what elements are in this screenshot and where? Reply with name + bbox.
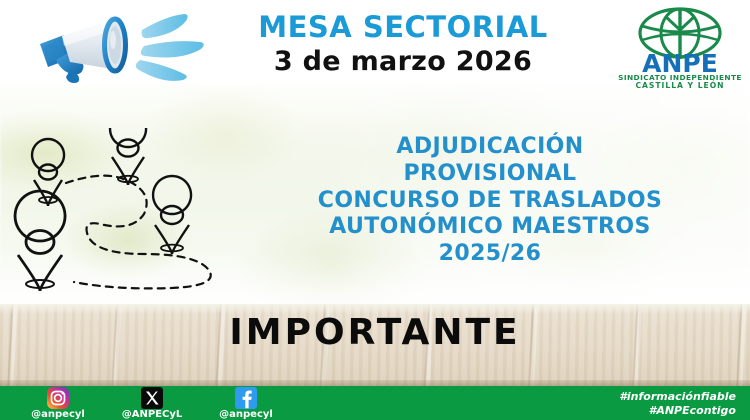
- x-handle: @ANPECyL: [122, 409, 183, 420]
- announcement-line-1: ADJUDICACIÓN: [238, 134, 742, 161]
- map-pins-route: [4, 128, 254, 298]
- instagram-handle: @anpecyl: [31, 409, 85, 420]
- social-links: @anpecyl @ANPECyL @anp: [16, 386, 288, 420]
- hashtag-informacionfiable: #informaciónfiable: [619, 390, 736, 404]
- announcement-line-4: AUTONÓMICO MAESTROS: [238, 214, 742, 241]
- social-link-instagram[interactable]: @anpecyl: [16, 386, 100, 420]
- facebook-handle: @anpecyl: [219, 409, 273, 420]
- announcement-text: ADJUDICACIÓN PROVISIONAL CONCURSO DE TRA…: [238, 134, 742, 268]
- importante-banner: IMPORTANTE: [0, 312, 750, 353]
- map-pin-icon: [15, 191, 65, 291]
- x-twitter-icon: [141, 387, 163, 409]
- poster-canvas: MESA SECTORIAL 3 de marzo 2026 ANPE SIND…: [0, 0, 750, 420]
- announcement-line-2: PROVISIONAL: [238, 161, 742, 188]
- hashtags: #informaciónfiable #ANPEcontigo: [619, 390, 736, 418]
- footer-bar: @anpecyl @ANPECyL @anp: [0, 386, 750, 420]
- meeting-date: 3 de marzo 2026: [208, 47, 598, 76]
- facebook-icon: [235, 387, 257, 409]
- dashed-route-path: [66, 176, 211, 289]
- social-link-facebook[interactable]: @anpecyl: [204, 386, 288, 420]
- announcement-line-5: 2025/26: [238, 241, 742, 268]
- map-pin-icon: [153, 176, 191, 254]
- logo-region: CASTILLA Y LEÓN: [635, 81, 724, 90]
- hashtag-anpecontigo: #ANPEcontigo: [619, 404, 736, 418]
- announcement-line-3: CONCURSO DE TRASLADOS: [238, 188, 742, 215]
- social-link-x[interactable]: @ANPECyL: [110, 386, 194, 420]
- anpe-logo: ANPE SINDICATO INDEPENDIENTE CASTILLA Y …: [618, 4, 742, 90]
- header-title-block: MESA SECTORIAL 3 de marzo 2026: [208, 12, 598, 76]
- map-pin-icon: [32, 139, 64, 206]
- page-title: MESA SECTORIAL: [208, 12, 598, 43]
- megaphone-icon: [26, 8, 211, 88]
- map-pin-icon: [110, 128, 146, 185]
- instagram-icon: [47, 387, 69, 409]
